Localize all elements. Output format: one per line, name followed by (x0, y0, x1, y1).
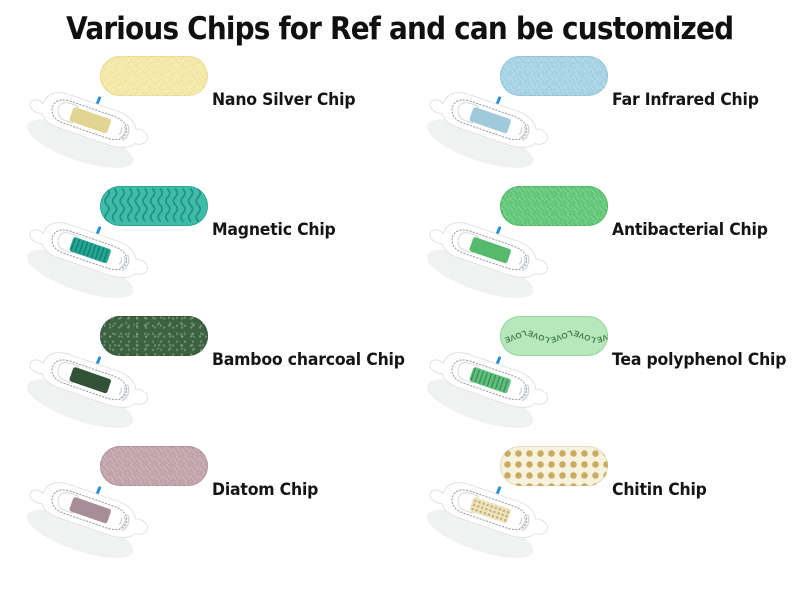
wave-stroke (181, 189, 185, 221)
chip-label: Bamboo charcoal Chip (212, 350, 389, 370)
sanitary-pad-illustration (8, 86, 158, 178)
sanitary-pad-illustration (408, 216, 558, 308)
chip-label: Diatom Chip (212, 480, 389, 500)
sanitary-pad-illustration (408, 476, 558, 568)
pad-wrapper (408, 476, 558, 568)
chip-label: Far Infrared Chip (612, 90, 789, 110)
pad-wrapper (8, 86, 158, 178)
love-text-column: LOVE (503, 328, 528, 344)
chip-cell[interactable]: LOVELOVELOVELOVELOVELOVELOVETea polyphen… (400, 310, 800, 440)
pad-wrapper (408, 216, 558, 308)
chip-label: Tea polyphenol Chip (612, 350, 789, 370)
chip-cell[interactable]: Diatom Chip (0, 440, 400, 570)
chip-cell[interactable]: Far Infrared Chip (400, 50, 800, 180)
love-text-column: LOVE (526, 328, 551, 344)
pad-wrapper (408, 86, 558, 178)
chip-cell[interactable]: Nano Silver Chip (0, 50, 400, 180)
chip-label: Nano Silver Chip (212, 90, 389, 110)
sanitary-pad-illustration (8, 476, 158, 568)
chip-label: Chitin Chip (612, 480, 789, 500)
sanitary-pad-illustration (408, 346, 558, 438)
wave-stroke (189, 189, 193, 221)
chip-cell[interactable]: Bamboo charcoal Chip (0, 310, 400, 440)
sanitary-pad-illustration (8, 346, 158, 438)
love-text-column: LOVE (572, 328, 597, 344)
pad-wrapper (408, 346, 558, 438)
chip-grid: Nano Silver ChipFar Infrared ChipMagneti… (0, 50, 800, 600)
chip-cell[interactable]: Chitin Chip (400, 440, 800, 570)
wave-stroke (196, 189, 200, 221)
wave-stroke (173, 189, 177, 221)
wave-stroke (158, 189, 162, 221)
chip-label: Antibacterial Chip (612, 220, 789, 240)
pad-wrapper (8, 346, 158, 438)
love-text-column: LOVE (595, 328, 608, 344)
chip-cell[interactable]: Antibacterial Chip (400, 180, 800, 310)
sanitary-pad-illustration (408, 86, 558, 178)
sanitary-pad-illustration (8, 216, 158, 308)
wave-stroke (166, 189, 170, 221)
chip-cell[interactable]: Magnetic Chip (0, 180, 400, 310)
page-title: Various Chips for Ref and can be customi… (66, 11, 733, 47)
pad-wrapper (8, 216, 158, 308)
pad-wrapper (8, 476, 158, 568)
love-text-column: LOVE (549, 328, 574, 344)
chip-label: Magnetic Chip (212, 220, 389, 240)
